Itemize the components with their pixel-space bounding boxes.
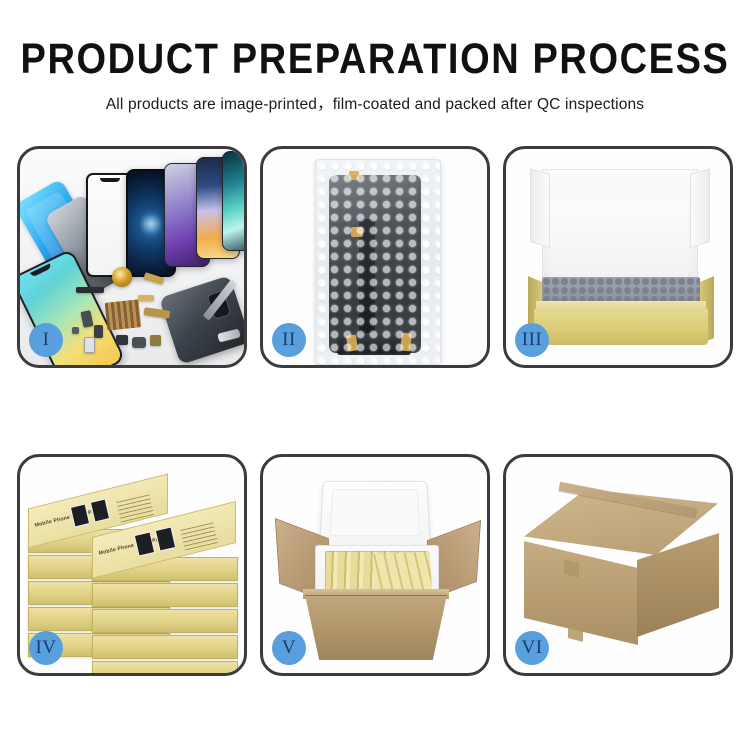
process-step-2[interactable]: II — [260, 146, 490, 368]
stacked-box — [92, 635, 238, 659]
step-badge-5: V — [272, 631, 306, 665]
spare-part — [132, 337, 146, 348]
process-step-4[interactable]: Mobile Phone Spare Parts Mobile Phone Sp… — [17, 454, 247, 676]
process-step-5[interactable]: V — [260, 454, 490, 676]
spare-part — [72, 327, 79, 334]
stacked-box — [92, 583, 238, 607]
speaker-coil-part — [112, 267, 132, 287]
screen-assembly — [329, 175, 421, 353]
gold-contact-tab — [400, 333, 412, 352]
step-badge-6: VI — [515, 631, 549, 665]
carton-tab — [568, 623, 583, 642]
step-badge-4: IV — [29, 631, 63, 665]
stacked-box — [92, 661, 238, 673]
page-subtitle: All products are image-printed，film-coat… — [0, 92, 750, 114]
process-step-6[interactable]: VI — [503, 454, 733, 676]
step-badge-2: II — [272, 323, 306, 357]
stacked-box — [92, 609, 238, 633]
chip-array-part — [105, 299, 142, 330]
process-step-1[interactable]: I — [17, 146, 247, 368]
white-foam-sheet — [550, 201, 688, 279]
spare-part — [84, 337, 95, 353]
gold-contact-tab — [346, 334, 358, 351]
box-lid-flap-right — [690, 168, 710, 248]
process-step-grid: I II III — [17, 146, 733, 676]
gold-contact-tab — [351, 227, 363, 237]
gold-contact-tab — [349, 171, 359, 180]
carton-body — [305, 595, 447, 660]
box-front-panel — [534, 309, 708, 345]
page-header: PRODUCT PREPARATION PROCESS All products… — [0, 0, 750, 114]
foam-lid — [319, 481, 431, 548]
phone-teal-display — [222, 151, 244, 251]
spare-part — [76, 287, 104, 293]
box-lid-flap-left — [530, 168, 550, 248]
spare-part — [94, 325, 103, 338]
spare-part — [116, 335, 128, 345]
process-step-3[interactable]: III — [503, 146, 733, 368]
page-title: PRODUCT PREPARATION PROCESS — [0, 36, 750, 83]
step-badge-1: I — [29, 323, 63, 357]
spare-part — [150, 335, 161, 346]
step-badge-3: III — [515, 323, 549, 357]
spare-part — [138, 295, 154, 301]
